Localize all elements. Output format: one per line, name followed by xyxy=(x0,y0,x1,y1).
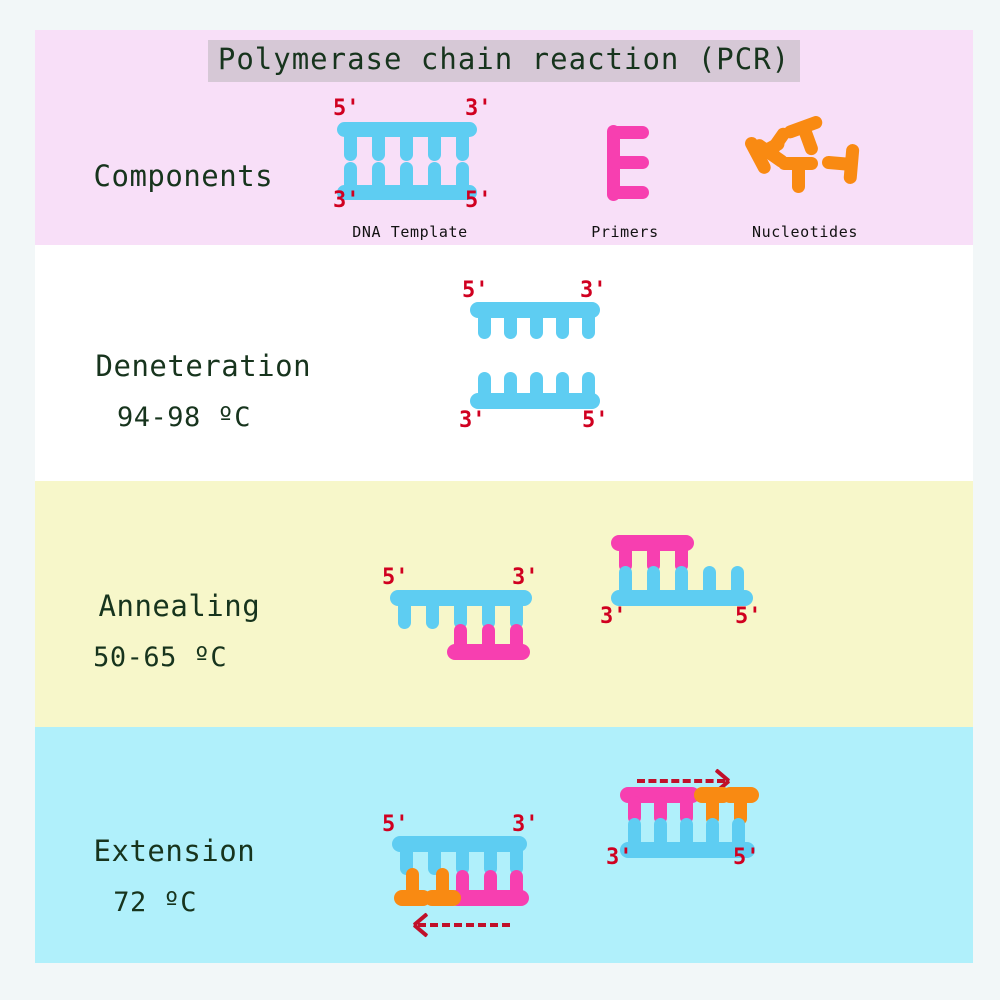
stage-name-components: Components xyxy=(94,159,274,193)
anneal-top-primer-backbone xyxy=(447,644,530,660)
prime-label-5p-anneal-bottom-right: 5' xyxy=(735,604,762,629)
denat-top-tooth-1 xyxy=(478,311,491,339)
prime-label-3p-denat-top-right: 3' xyxy=(580,278,607,303)
primer-glyph xyxy=(607,125,653,201)
stage-name-denaturation: Deneteration xyxy=(96,349,312,383)
stage-label-extension: Extension 72 ºC xyxy=(55,817,255,955)
prime-label-3p-denat-bottom-left: 3' xyxy=(459,408,486,433)
dna-rung-lower-3 xyxy=(400,162,413,192)
dna-rung-upper-5 xyxy=(456,131,469,161)
pcr-infographic: Adobe Stock | #327181915 Polymerase chai… xyxy=(0,0,1000,1000)
extension-arrow-right-head xyxy=(715,774,729,788)
primer-arm-2 xyxy=(609,156,649,169)
extension-arrow-left xyxy=(418,918,510,932)
anneal-bottom-backbone xyxy=(611,590,753,606)
denat-top-tooth-3 xyxy=(530,311,543,339)
nucleotide-icon-3 xyxy=(818,141,861,184)
prime-label-3p-bottom-left: 3' xyxy=(333,188,360,213)
watermark-strip: Adobe Stock | #327181915 xyxy=(0,0,35,1000)
stage-name-annealing: Annealing xyxy=(99,589,261,623)
caption-primers: Primers xyxy=(535,223,715,241)
denat-top-tooth-4 xyxy=(556,311,569,339)
stage-label-components: Components xyxy=(55,142,273,212)
anneal-top-tooth-1 xyxy=(398,599,411,629)
denat-top-tooth-5 xyxy=(582,311,595,339)
stage-temp-extension: 72 ºC xyxy=(55,887,255,918)
denat-top-tooth-2 xyxy=(504,311,517,339)
dna-rung-upper-1 xyxy=(344,131,357,161)
prime-label-5p-top-left: 5' xyxy=(333,96,360,121)
page-title: Polymerase chain reaction (PCR) xyxy=(35,40,973,82)
prime-label-5p-ext-bottom-right: 5' xyxy=(733,845,760,870)
primer-arm-1 xyxy=(609,126,649,139)
prime-label-5p-denat-bottom-right: 5' xyxy=(582,408,609,433)
prime-label-5p-anneal-top-left: 5' xyxy=(382,565,409,590)
stage-temp-denaturation: 94-98 ºC xyxy=(57,402,311,433)
caption-nucleotides: Nucleotides xyxy=(715,223,895,241)
prime-label-3p-top-right: 3' xyxy=(465,96,492,121)
dna-rung-upper-3 xyxy=(400,131,413,161)
prime-label-3p-ext-bottom-left: 3' xyxy=(606,845,633,870)
ext-top-primer-backbone xyxy=(449,890,529,906)
extension-arrow-right-shaft xyxy=(637,779,725,783)
primer-arm-3 xyxy=(609,186,649,199)
prime-label-3p-anneal-top-right: 3' xyxy=(512,565,539,590)
stage-temp-annealing: 50-65 ºC xyxy=(60,642,260,673)
extension-arrow-right xyxy=(637,774,725,788)
prime-label-5p-bottom-right: 5' xyxy=(465,188,492,213)
dna-rung-upper-2 xyxy=(372,131,385,161)
denat-bottom-backbone xyxy=(470,393,600,409)
stage-name-extension: Extension xyxy=(94,834,256,868)
prime-label-5p-ext-top-left: 5' xyxy=(382,812,409,837)
dna-rung-lower-2 xyxy=(372,162,385,192)
anneal-top-tooth-2 xyxy=(426,599,439,629)
dna-rung-lower-4 xyxy=(428,162,441,192)
page-title-text: Polymerase chain reaction (PCR) xyxy=(208,40,800,82)
ext-top-new-nucleotide-2 xyxy=(424,868,461,906)
prime-label-3p-anneal-bottom-left: 3' xyxy=(600,604,627,629)
stage-label-denaturation: Deneteration 94-98 ºC xyxy=(57,332,311,470)
prime-label-5p-denat-top-left: 5' xyxy=(462,278,489,303)
dna-rung-upper-4 xyxy=(428,131,441,161)
stage-label-annealing: Annealing 50-65 ºC xyxy=(60,572,260,710)
prime-label-3p-ext-top-right: 3' xyxy=(512,812,539,837)
extension-arrow-left-head xyxy=(414,918,428,932)
extension-arrow-left-shaft xyxy=(418,923,510,927)
caption-dna-template: DNA Template xyxy=(320,223,500,241)
